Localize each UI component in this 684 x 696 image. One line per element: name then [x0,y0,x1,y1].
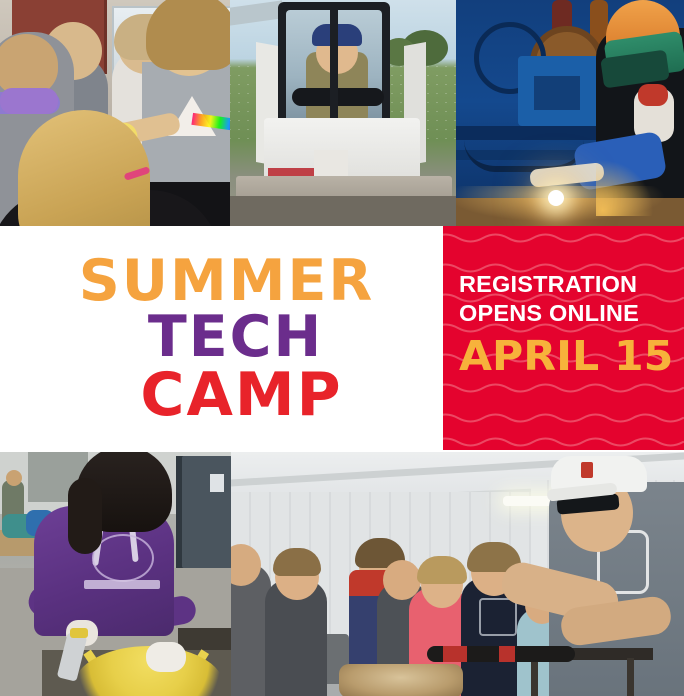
headline-tech: TECH [148,311,323,363]
photo-spray-painting-art [0,452,231,696]
registration-text-block: REGISTRATION OPENS ONLINE APRIL 15 [459,270,673,377]
registration-line-2: OPENS ONLINE [459,299,673,328]
registration-date: APRIL 15 [459,336,682,377]
headline-summer: SUMMER [79,255,375,307]
top-photo-row [0,0,684,226]
headline-camp: CAMP [140,368,342,423]
headline-block: SUMMER TECH CAMP [0,226,443,452]
photo-shop-demonstration [231,452,684,696]
registration-panel: REGISTRATION OPENS ONLINE APRIL 15 [443,226,684,450]
summer-tech-camp-poster: SUMMER TECH CAMP REGISTRATION OPENS ONLI… [0,0,684,696]
photo-welding-sparks [456,0,684,226]
photo-skid-steer-operation [230,0,456,226]
photo-health-science-casting [0,0,230,226]
registration-line-1: REGISTRATION [459,270,673,299]
bottom-photo-row [0,452,684,696]
